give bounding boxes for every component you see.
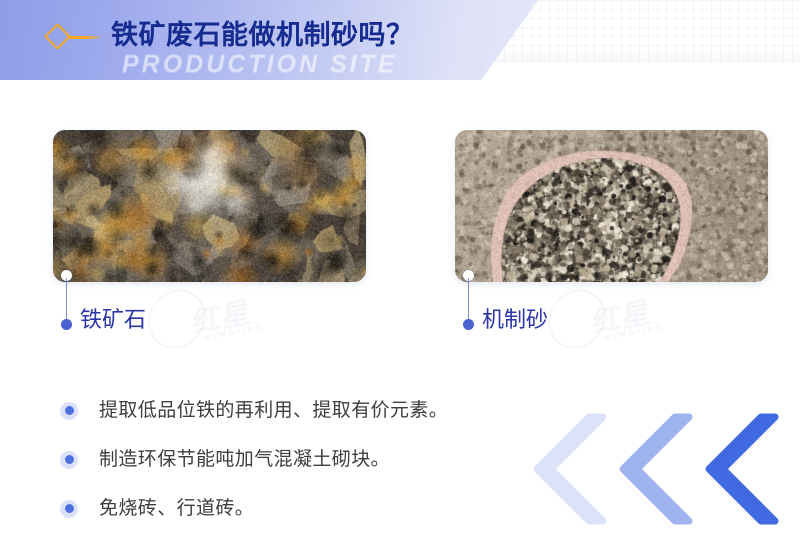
benefits-list: 提取低品位铁的再利用、提取有价元素。 制造环保节能吨加气混凝土砌块。 免烧砖、行… — [60, 386, 530, 533]
iron-ore-label: 铁矿石 — [80, 306, 146, 334]
chevron-left-decoration — [517, 411, 792, 527]
bullet-dot-icon — [60, 451, 78, 469]
list-item: 免烧砖、行道砖。 — [60, 484, 530, 533]
chevron-left-icon — [623, 417, 689, 521]
bullet-dot-icon — [60, 402, 78, 420]
callout-line-icon — [468, 278, 470, 322]
callout-end-dot-icon — [463, 319, 474, 330]
machine-sand-photo — [455, 130, 768, 282]
machine-sand-label: 机制砂 — [482, 306, 548, 334]
bullet-dot-icon — [60, 500, 78, 518]
chevron-left-icon — [709, 417, 775, 521]
list-item-label: 提取低品位铁的再利用、提取有价元素。 — [99, 398, 448, 424]
slide-canvas: 红星 HONGXING 红星 HONGXING PRODUCTION SITE … — [0, 0, 800, 555]
chevron-left-icon — [537, 417, 603, 521]
iron-ore-image — [53, 130, 366, 282]
iron-ore-photo — [53, 130, 366, 282]
callout-end-dot-icon — [61, 319, 72, 330]
list-item-label: 制造环保节能吨加气混凝土砌块。 — [99, 447, 390, 473]
list-item: 提取低品位铁的再利用、提取有价元素。 — [60, 386, 530, 435]
header-banner — [0, 0, 541, 80]
callout-line-icon — [66, 278, 68, 322]
list-item-label: 免烧砖、行道砖。 — [99, 496, 254, 522]
list-item: 制造环保节能吨加气混凝土砌块。 — [60, 435, 530, 484]
machine-sand-image — [455, 130, 768, 282]
